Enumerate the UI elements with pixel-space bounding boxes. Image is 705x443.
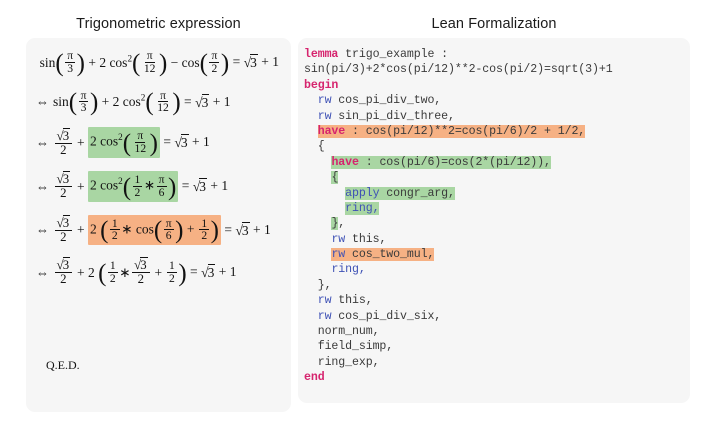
code-indent	[304, 171, 331, 184]
code-indent	[304, 310, 318, 323]
code-text: },	[318, 279, 332, 292]
code-text: sin(pi/3)+2*cos(pi/12)**2-cos(pi/2)=sqrt…	[304, 63, 613, 76]
code-tactic: rw	[318, 294, 332, 307]
lean-formalization-panel: lemma trigo_example :sin(pi/3)+2*cos(pi/…	[298, 38, 690, 403]
code-indent	[304, 125, 318, 138]
equation-line-5: ⇔ √32 + 2 (12∗ cos(π6) + 12) = √3 + 1	[36, 215, 281, 246]
equation-line-3: ⇔ √32 + 2 cos2(π12) = √3 + 1	[36, 127, 281, 158]
code-text: : cos(pi/6)=cos(2*(pi/12)),	[359, 156, 551, 169]
math-derivation: sin(π3) + 2 cos2(π12) − cos(π2) = √3 + 1…	[26, 38, 291, 412]
code-line: },	[304, 216, 613, 231]
code-line-content: {	[318, 140, 325, 153]
code-indent	[304, 110, 318, 123]
code-line: {	[304, 139, 613, 154]
code-line-content: have : cos(pi/6)=cos(2*(pi/12)),	[331, 156, 550, 169]
code-indent	[304, 325, 318, 338]
code-line: have : cos(pi/6)=cos(2*(pi/12)),	[304, 155, 613, 170]
code-line-content: apply congr_arg,	[345, 187, 455, 200]
code-text: this,	[331, 294, 372, 307]
code-line-content: ring,	[331, 263, 365, 276]
code-indent	[304, 279, 318, 292]
code-tactic: rw	[318, 110, 332, 123]
code-line-content: rw sin_pi_div_three,	[318, 110, 455, 123]
code-tactic: ring,	[331, 263, 365, 276]
equation-line-4: ⇔ √32 + 2 cos2(12∗π6) = √3 + 1	[36, 171, 281, 202]
code-text: ,	[338, 217, 345, 230]
lean-code-block[interactable]: lemma trigo_example :sin(pi/3)+2*cos(pi/…	[298, 38, 613, 386]
code-text: sin_pi_div_three,	[331, 110, 454, 123]
code-line: ring_exp,	[304, 355, 613, 370]
code-indent	[304, 248, 331, 261]
code-indent	[304, 340, 318, 353]
code-line: rw cos_pi_div_six,	[304, 309, 613, 324]
code-tactic: ring,	[345, 202, 379, 215]
code-line-content: {	[331, 171, 338, 184]
code-line: begin	[304, 78, 613, 93]
code-text: {	[318, 140, 325, 153]
code-text: congr_arg,	[379, 187, 454, 200]
code-line: sin(pi/3)+2*cos(pi/12)**2-cos(pi/2)=sqrt…	[304, 62, 613, 77]
code-text: norm_num,	[318, 325, 380, 338]
code-indent	[304, 294, 318, 307]
code-line: rw cos_pi_div_two,	[304, 93, 613, 108]
code-text: {	[331, 171, 338, 184]
code-line-content: rw this,	[331, 233, 386, 246]
code-line-content: rw cos_pi_div_six,	[318, 310, 441, 323]
code-keyword: end	[304, 371, 325, 384]
right-panel-title: Lean Formalization	[298, 16, 690, 32]
code-line: ring,	[304, 201, 613, 216]
comparison-figure: Trigonometric expression sin(π3) + 2 cos…	[0, 0, 705, 443]
code-line-content: norm_num,	[318, 325, 380, 338]
code-line-content: ring_exp,	[318, 356, 380, 369]
equation-line-2: ⇔ sin(π3) + 2 cos2(π12) = √3 + 1	[36, 90, 281, 115]
code-line: field_simp,	[304, 339, 613, 354]
code-line-content: have : cos(pi/12)**2=cos(pi/6)/2 + 1/2,	[318, 125, 585, 138]
code-line-content: sin(pi/3)+2*cos(pi/12)**2-cos(pi/2)=sqrt…	[304, 63, 613, 76]
code-indent	[304, 356, 318, 369]
code-keyword: lemma	[304, 48, 338, 61]
code-keyword: begin	[304, 79, 338, 92]
code-indent	[304, 202, 345, 215]
code-line-content: end	[304, 371, 325, 384]
code-text: ring_exp,	[318, 356, 380, 369]
code-line: rw sin_pi_div_three,	[304, 109, 613, 124]
code-text: cos_two_mul,	[345, 248, 434, 261]
code-line-content: field_simp,	[318, 340, 393, 353]
code-line: rw cos_two_mul,	[304, 247, 613, 262]
code-tactic: rw	[318, 94, 332, 107]
code-line-content: rw this,	[318, 294, 373, 307]
code-line: have : cos(pi/12)**2=cos(pi/6)/2 + 1/2,	[304, 124, 613, 139]
code-tactic: apply	[345, 187, 379, 200]
code-tactic: rw	[318, 310, 332, 323]
code-indent	[304, 187, 345, 200]
code-line-content: lemma trigo_example :	[304, 48, 448, 61]
code-line-content: rw cos_pi_div_two,	[318, 94, 441, 107]
code-tactic: rw	[331, 233, 345, 246]
code-keyword: have	[318, 125, 345, 138]
code-line: norm_num,	[304, 324, 613, 339]
code-tactic: rw	[331, 248, 345, 261]
code-line-content: begin	[304, 79, 338, 92]
code-keyword: have	[331, 156, 358, 169]
trigonometric-expression-panel: sin(π3) + 2 cos2(π12) − cos(π2) = √3 + 1…	[26, 38, 291, 412]
code-text: trigo_example :	[338, 48, 448, 61]
code-line-content: },	[331, 217, 345, 230]
code-text: cos_pi_div_six,	[331, 310, 441, 323]
code-line: },	[304, 278, 613, 293]
equation-line-6: ⇔ √32 + 2 (12∗√32 + 12) = √3 + 1	[36, 258, 281, 286]
code-line: rw this,	[304, 293, 613, 308]
code-indent	[304, 217, 331, 230]
code-indent	[304, 263, 331, 276]
code-text: : cos(pi/12)**2=cos(pi/6)/2 + 1/2,	[345, 125, 585, 138]
code-line: lemma trigo_example :	[304, 47, 613, 62]
highlight-orange-eq5: 2 (12∗ cos(π6) + 12)	[88, 215, 221, 246]
highlight-green-eq3: 2 cos2(π12)	[88, 127, 160, 158]
code-text: cos_pi_div_two,	[331, 94, 441, 107]
code-indent	[304, 94, 318, 107]
code-line-content: },	[318, 279, 332, 292]
equation-line-1: sin(π3) + 2 cos2(π12) − cos(π2) = √3 + 1	[36, 50, 281, 75]
left-panel-title: Trigonometric expression	[26, 16, 291, 32]
code-line-content: rw cos_two_mul,	[331, 248, 434, 261]
code-text: this,	[345, 233, 386, 246]
code-indent	[304, 233, 331, 246]
code-line: end	[304, 370, 613, 385]
code-line: rw this,	[304, 232, 613, 247]
code-line: ring,	[304, 262, 613, 277]
code-line: {	[304, 170, 613, 185]
code-indent	[304, 140, 318, 153]
code-line-content: ring,	[345, 202, 379, 215]
code-indent	[304, 156, 331, 169]
qed-label: Q.E.D.	[46, 358, 80, 373]
code-line: apply congr_arg,	[304, 186, 613, 201]
highlight-green-eq4: 2 cos2(12∗π6)	[88, 171, 178, 202]
code-text: field_simp,	[318, 340, 393, 353]
